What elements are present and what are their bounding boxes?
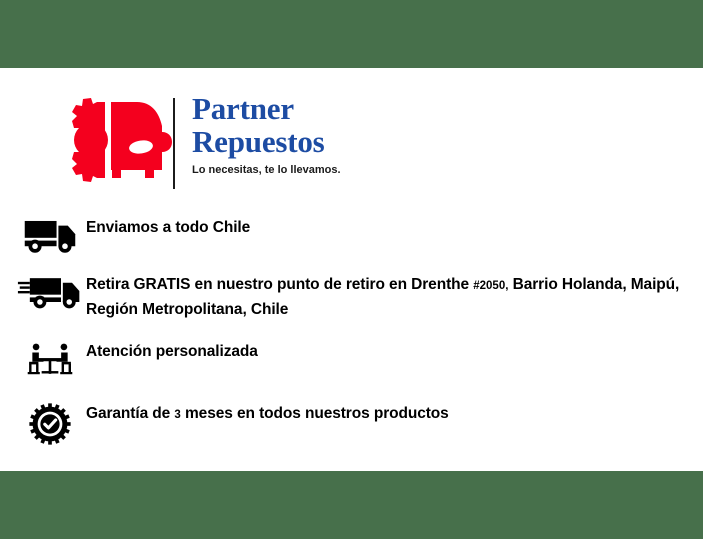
feature-text-garantia-main: Garantía de bbox=[86, 405, 174, 422]
logo-divider bbox=[173, 98, 175, 189]
feature-text-envios-main: Enviamos a todo Chile bbox=[86, 219, 250, 236]
top-green-band bbox=[0, 0, 703, 68]
feature-row-retiro: Retira GRATIS en nuestro punto de retiro… bbox=[14, 272, 704, 321]
feature-text-atencion: Atención personalizada bbox=[86, 340, 704, 363]
feature-text-retiro: Retira GRATIS en nuestro punto de retiro… bbox=[86, 272, 704, 321]
brand-tagline: Lo necesitas, te lo llevamos. bbox=[192, 164, 472, 177]
feature-text-envios: Enviamos a todo Chile bbox=[86, 216, 704, 239]
fast-delivery-truck-icon bbox=[14, 272, 86, 310]
feature-text-atencion-main: Atención personalizada bbox=[86, 343, 258, 360]
promo-banner: Partner Repuestos Lo necesitas, te lo ll… bbox=[0, 0, 719, 539]
feature-row-envios: Enviamos a todo Chile bbox=[14, 216, 704, 254]
people-at-table-icon bbox=[14, 340, 86, 378]
delivery-truck-icon bbox=[14, 216, 86, 254]
brand-text-block: Partner Repuestos Lo necesitas, te lo ll… bbox=[192, 92, 472, 177]
feature-row-atencion: Atención personalizada bbox=[14, 340, 704, 378]
feature-text-retiro-number: #2050, bbox=[473, 280, 508, 292]
feature-text-garantia-rest: meses en todos nuestros productos bbox=[181, 405, 449, 422]
brand-line-repuestos: Repuestos bbox=[192, 125, 472, 158]
bottom-green-band bbox=[0, 471, 703, 539]
brand-line-partner: Partner bbox=[192, 92, 472, 125]
guarantee-seal-check-icon bbox=[14, 402, 86, 446]
gear-car-logo-icon bbox=[55, 96, 173, 184]
feature-text-garantia: Garantía de 3 meses en todos nuestros pr… bbox=[86, 402, 704, 426]
feature-row-garantia: Garantía de 3 meses en todos nuestros pr… bbox=[14, 402, 704, 446]
feature-text-retiro-main: Retira GRATIS en nuestro punto de retiro… bbox=[86, 276, 473, 293]
brand-logo-block: Partner Repuestos Lo necesitas, te lo ll… bbox=[55, 92, 475, 190]
